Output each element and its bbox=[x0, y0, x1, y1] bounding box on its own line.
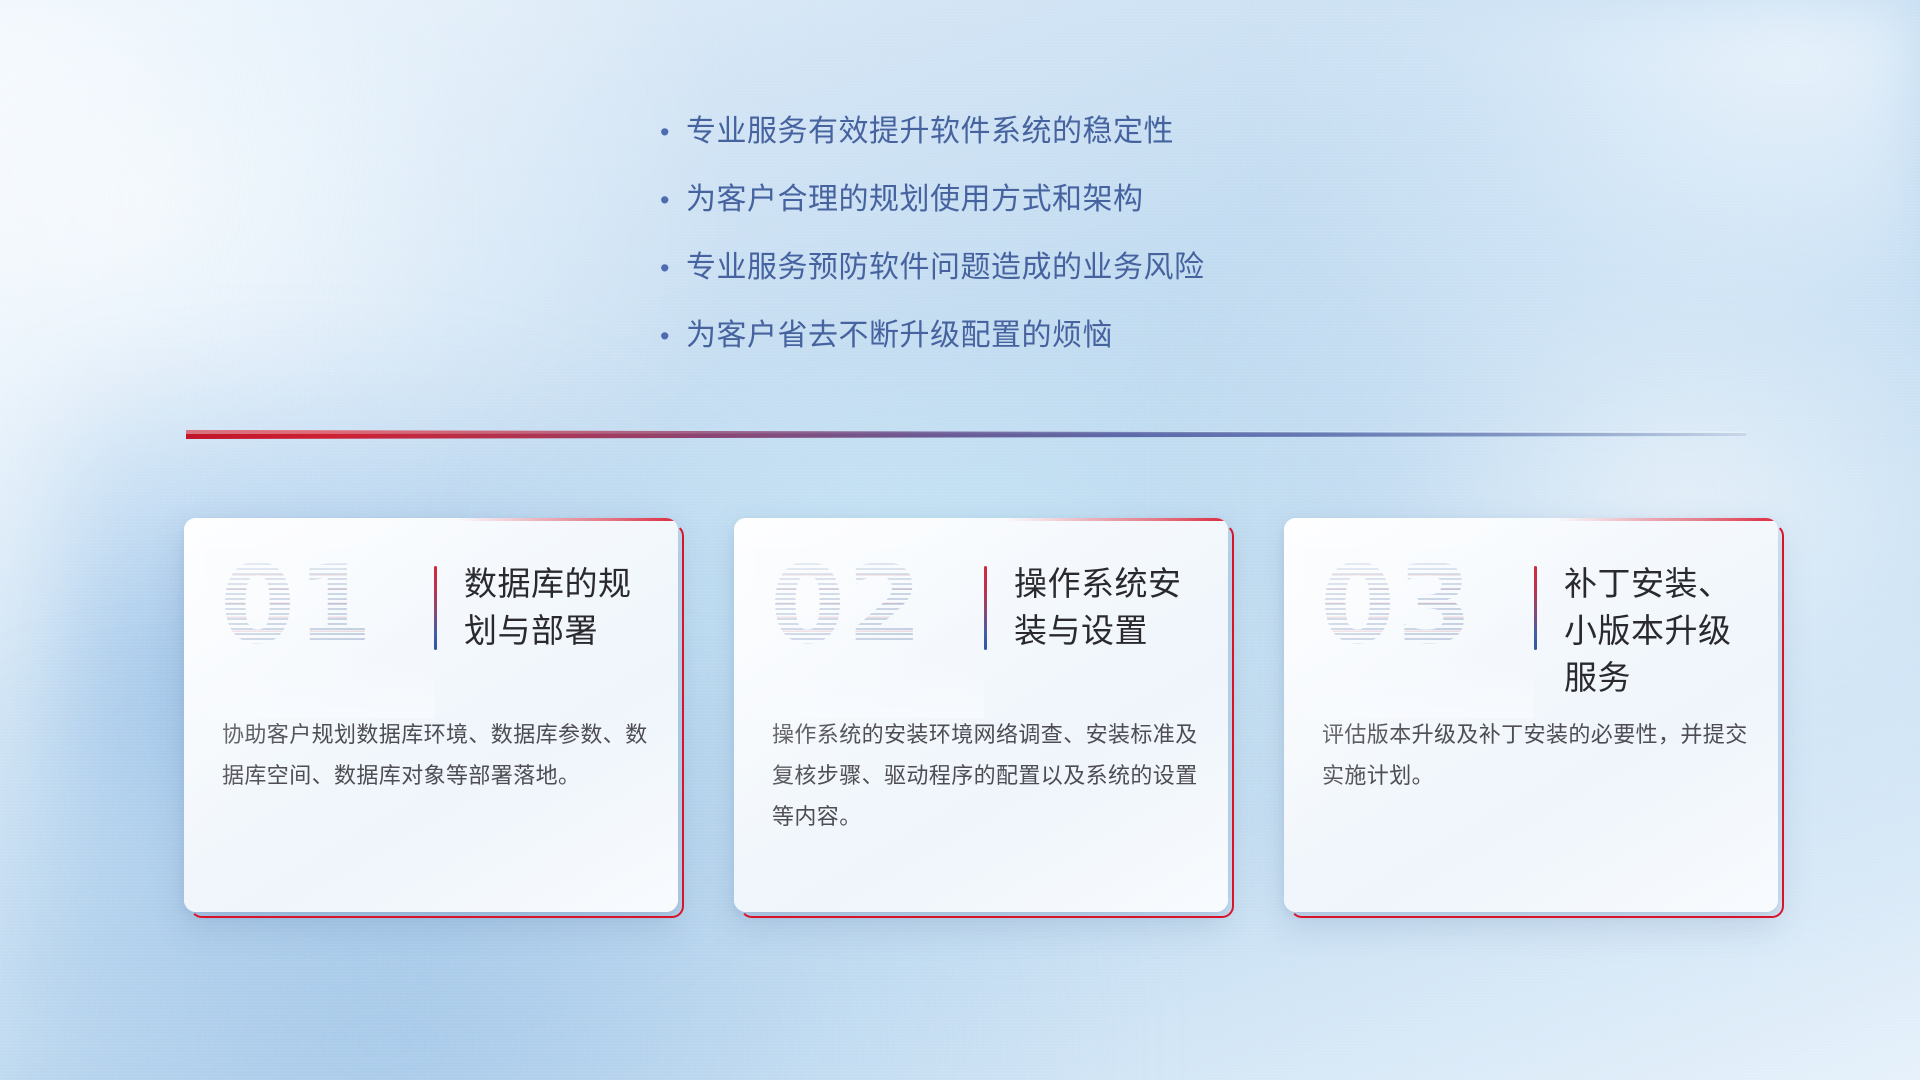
bullet-item-4: • 为客户省去不断升级配置的烦恼 bbox=[660, 316, 1420, 356]
service-card-01[interactable]: 01 01 数据库的规划与部署 协助客户规划数据库环境、数据库参数、数据库空间、… bbox=[184, 518, 678, 912]
bullet-dot-icon: • bbox=[660, 316, 686, 356]
card-title-rule bbox=[984, 566, 987, 650]
service-card-list: 01 01 数据库的规划与部署 协助客户规划数据库环境、数据库参数、数据库空间、… bbox=[184, 518, 1778, 912]
card-number-watermark-tint: 02 bbox=[770, 552, 924, 660]
card-description: 协助客户规划数据库环境、数据库参数、数据库空间、数据库对象等部署落地。 bbox=[222, 714, 652, 796]
divider-gradient-bar bbox=[186, 430, 1746, 439]
card-description: 评估版本升级及补丁安装的必要性，并提交实施计划。 bbox=[1322, 714, 1752, 796]
bullet-item-label: 为客户合理的规划使用方式和架构 bbox=[686, 180, 1144, 220]
card-title: 数据库的规划与部署 bbox=[464, 560, 654, 654]
bullet-item-1: • 专业服务有效提升软件系统的稳定性 bbox=[660, 112, 1420, 152]
card-title: 补丁安装、小版本升级服务 bbox=[1564, 560, 1754, 701]
card-title-rule bbox=[1534, 566, 1537, 650]
card-top-edge-accent bbox=[184, 518, 678, 521]
card-number-watermark-tint: 01 bbox=[220, 552, 374, 660]
bullet-dot-icon: • bbox=[660, 180, 686, 220]
card-title-rule bbox=[434, 566, 437, 650]
service-card-03[interactable]: 03 03 补丁安装、小版本升级服务 评估版本升级及补丁安装的必要性，并提交实施… bbox=[1284, 518, 1778, 912]
bullet-item-3: • 专业服务预防软件问题造成的业务风险 bbox=[660, 248, 1420, 288]
slide-canvas: • 专业服务有效提升软件系统的稳定性 • 为客户合理的规划使用方式和架构 • 专… bbox=[0, 0, 1920, 1080]
section-divider bbox=[186, 428, 1746, 448]
service-card-02[interactable]: 02 02 操作系统安装与设置 操作系统的安装环境网络调查、安装标准及复核步骤、… bbox=[734, 518, 1228, 912]
card-number-watermark-tint: 03 bbox=[1320, 552, 1474, 660]
bullet-item-2: • 为客户合理的规划使用方式和架构 bbox=[660, 180, 1420, 220]
benefits-bullet-list: • 专业服务有效提升软件系统的稳定性 • 为客户合理的规划使用方式和架构 • 专… bbox=[660, 112, 1420, 384]
bullet-item-label: 为客户省去不断升级配置的烦恼 bbox=[686, 316, 1113, 356]
card-top-edge-accent bbox=[734, 518, 1228, 521]
card-description: 操作系统的安装环境网络调查、安装标准及复核步骤、驱动程序的配置以及系统的设置等内… bbox=[772, 714, 1202, 837]
bullet-dot-icon: • bbox=[660, 112, 686, 152]
bullet-item-label: 专业服务预防软件问题造成的业务风险 bbox=[686, 248, 1205, 288]
card-title: 操作系统安装与设置 bbox=[1014, 560, 1204, 654]
bullet-dot-icon: • bbox=[660, 248, 686, 288]
card-top-edge-accent bbox=[1284, 518, 1778, 521]
bullet-item-label: 专业服务有效提升软件系统的稳定性 bbox=[686, 112, 1174, 152]
